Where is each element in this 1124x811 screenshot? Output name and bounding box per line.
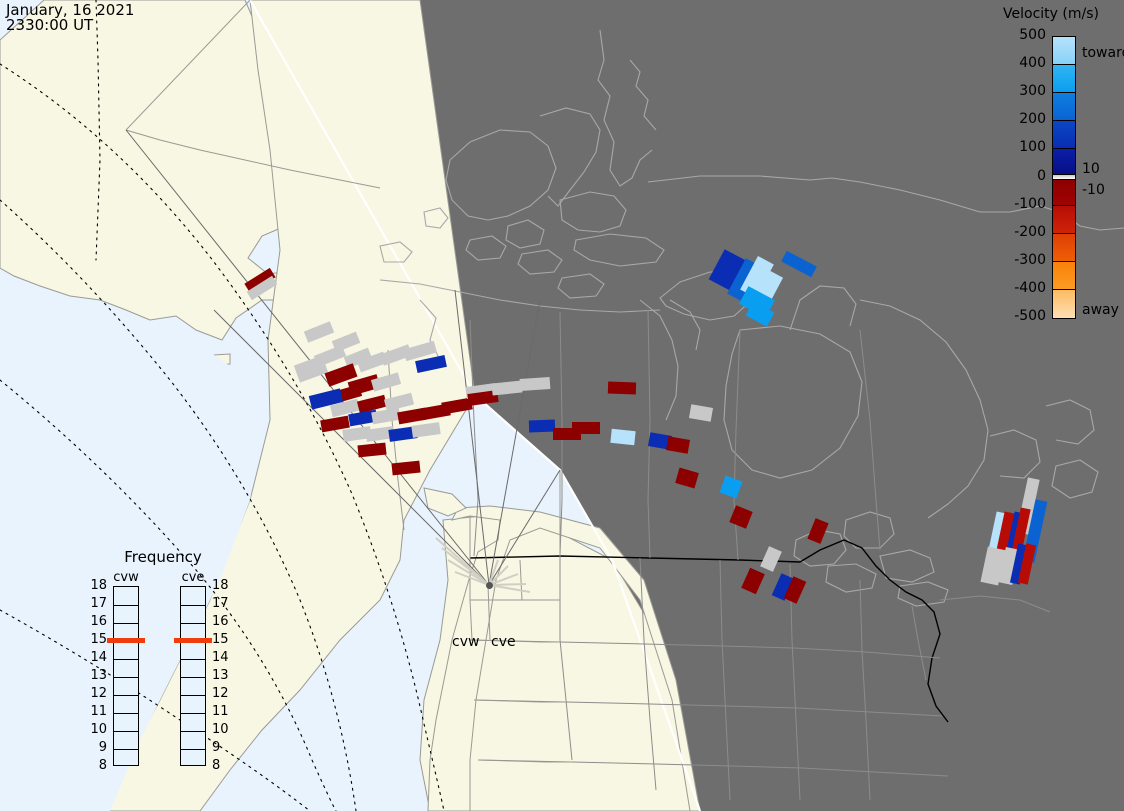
frequency-tick-label-cve-8: 8 — [212, 758, 234, 773]
radar-site-dot — [486, 582, 493, 589]
site-label-cve: cve — [491, 634, 516, 650]
frequency-tick-line — [181, 695, 205, 696]
frequency-tick-line — [181, 623, 205, 624]
velocity-cell — [608, 382, 636, 395]
frequency-tick-line — [114, 731, 138, 732]
colorbar-pos-threshold-label: 10 — [1082, 161, 1100, 177]
timestamp-time: 2330:00 UT — [6, 17, 93, 33]
colorbar-neg-threshold-label: -10 — [1082, 182, 1105, 198]
colorbar-segment-4 — [1053, 149, 1075, 174]
frequency-column-label-cve: cve — [170, 570, 216, 585]
frequency-tick-label-cve-9: 9 — [212, 740, 234, 755]
frequency-column-label-cvw: cvw — [103, 570, 149, 585]
frequency-tick-line — [114, 677, 138, 678]
colorbar-tick-200: 200 — [994, 111, 1046, 127]
frequency-tick-label-cvw-8: 8 — [85, 758, 107, 773]
colorbar-away-label: away — [1082, 302, 1119, 318]
frequency-marker-cve — [174, 638, 212, 643]
radar-map-screenshot: January, 16 2021 2330:00 UT Velocity (m/… — [0, 0, 1124, 811]
frequency-tick-label-cve-16: 16 — [212, 614, 234, 629]
frequency-tick-label-cve-15: 15 — [212, 632, 234, 647]
velocity-cell — [529, 420, 555, 433]
colorbar-tick-300: 300 — [994, 83, 1046, 99]
colorbar-segment-3 — [1053, 121, 1075, 149]
site-label-cvw: cvw — [452, 634, 479, 650]
colorbar-gradient-bar — [1052, 36, 1076, 319]
frequency-tick-line — [181, 677, 205, 678]
velocity-cell — [610, 429, 635, 445]
frequency-tick-line — [114, 695, 138, 696]
frequency-tick-label-cvw-13: 13 — [85, 668, 107, 683]
frequency-scale-cvw — [113, 586, 139, 766]
frequency-tick-line — [114, 659, 138, 660]
frequency-tick-line — [114, 605, 138, 606]
frequency-tick-label-cve-12: 12 — [212, 686, 234, 701]
colorbar-segment-6 — [1053, 180, 1075, 205]
frequency-tick-line — [181, 713, 205, 714]
frequency-tick-label-cvw-16: 16 — [85, 614, 107, 629]
frequency-tick-line — [114, 713, 138, 714]
frequency-tick-line — [181, 605, 205, 606]
frequency-legend-title: Frequency — [88, 548, 238, 566]
frequency-tick-line — [114, 623, 138, 624]
frequency-tick-label-cve-11: 11 — [212, 704, 234, 719]
frequency-tick-line — [114, 749, 138, 750]
colorbar-tick-0: 0 — [994, 168, 1046, 184]
frequency-tick-line — [181, 659, 205, 660]
frequency-tick-label-cve-18: 18 — [212, 578, 234, 593]
colorbar-segment-1 — [1053, 65, 1075, 93]
frequency-marker-cvw — [107, 638, 145, 643]
colorbar-tick--100: -100 — [994, 196, 1046, 212]
velocity-cell — [572, 422, 600, 434]
frequency-tick-line — [181, 749, 205, 750]
frequency-tick-label-cvw-14: 14 — [85, 650, 107, 665]
frequency-tick-label-cvw-9: 9 — [85, 740, 107, 755]
frequency-tick-label-cve-10: 10 — [212, 722, 234, 737]
frequency-tick-label-cve-17: 17 — [212, 596, 234, 611]
colorbar-toward-label: toward — [1082, 45, 1124, 61]
colorbar-segment-7 — [1053, 206, 1075, 234]
frequency-tick-label-cve-13: 13 — [212, 668, 234, 683]
colorbar-segment-9 — [1053, 262, 1075, 290]
colorbar-tick-500: 500 — [994, 27, 1046, 43]
colorbar-segment-8 — [1053, 234, 1075, 262]
colorbar-tick-400: 400 — [994, 55, 1046, 71]
velocity-cell — [520, 377, 551, 391]
frequency-tick-label-cve-14: 14 — [212, 650, 234, 665]
colorbar-title: Velocity (m/s) — [978, 6, 1124, 22]
frequency-tick-label-cvw-15: 15 — [85, 632, 107, 647]
colorbar-tick--300: -300 — [994, 252, 1046, 268]
frequency-tick-label-cvw-12: 12 — [85, 686, 107, 701]
colorbar-segment-10 — [1053, 290, 1075, 318]
frequency-scale-cve — [180, 586, 206, 766]
frequency-tick-label-cvw-18: 18 — [85, 578, 107, 593]
colorbar-segment-0 — [1053, 37, 1075, 65]
colorbar-segment-2 — [1053, 93, 1075, 121]
frequency-tick-label-cvw-11: 11 — [85, 704, 107, 719]
frequency-tick-label-cvw-17: 17 — [85, 596, 107, 611]
colorbar-tick--500: -500 — [994, 308, 1046, 324]
frequency-tick-line — [181, 731, 205, 732]
colorbar-tick--400: -400 — [994, 280, 1046, 296]
frequency-tick-label-cvw-10: 10 — [85, 722, 107, 737]
colorbar-tick--200: -200 — [994, 224, 1046, 240]
colorbar-tick-100: 100 — [994, 139, 1046, 155]
